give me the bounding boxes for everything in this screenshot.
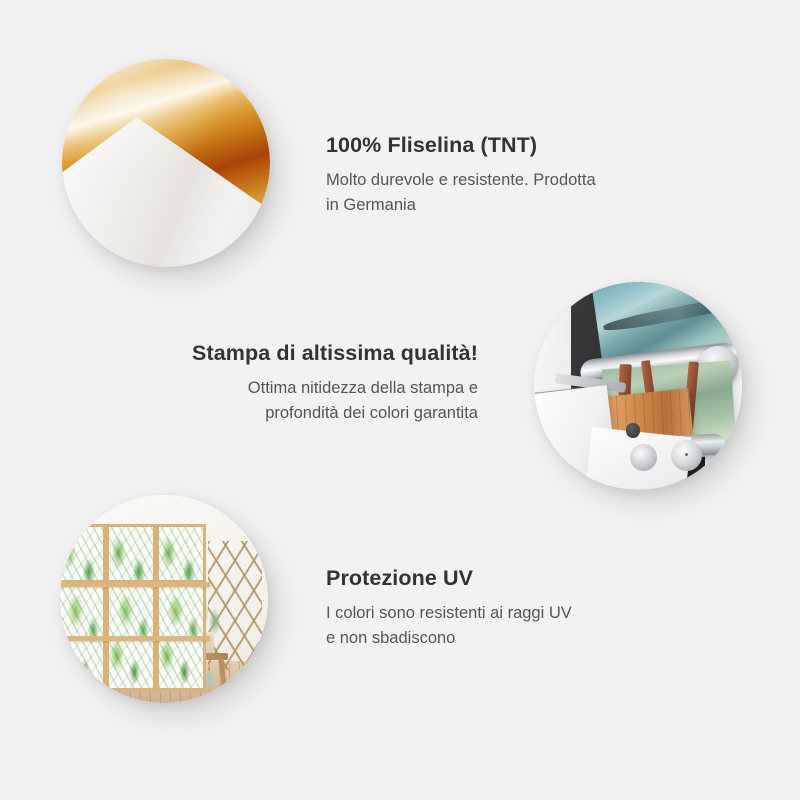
wallpaper-roll-peel-image xyxy=(62,59,270,267)
feature-body-line-1: I colori sono resistenti ai raggi UV xyxy=(326,601,706,626)
feature-body-line-1: Molto durevole e resistente. Prodotta xyxy=(326,168,706,193)
divider-image-inner xyxy=(60,495,268,703)
feature-body-line-2: e non sbadiscono xyxy=(326,626,706,651)
feature-highlights-page: 100% Fliselina (TNT) Molto durevole e re… xyxy=(0,0,800,800)
printer-lower-end-cap xyxy=(630,444,657,471)
feature-text-uv: Protezione UV I colori sono resistenti a… xyxy=(326,566,706,650)
tropical-room-divider-image xyxy=(60,495,268,703)
screen-panel xyxy=(60,524,106,690)
wallpaper-sheen xyxy=(62,59,270,267)
feature-heading-stampa: Stampa di altissima qualità! xyxy=(98,341,478,367)
feature-heading-fliselina: 100% Fliselina (TNT) xyxy=(326,133,706,159)
printer-knob xyxy=(626,423,641,438)
feature-body-line-1: Ottima nitidezza della stampa e xyxy=(98,376,478,401)
feature-text-stampa: Stampa di altissima qualità! Ottima niti… xyxy=(98,341,478,425)
feature-heading-uv: Protezione UV xyxy=(326,566,706,592)
wallpaper-image-inner xyxy=(62,59,270,267)
screen-panel xyxy=(106,524,156,690)
feature-body-line-2: in Germania xyxy=(326,193,706,218)
screen-cross-rail xyxy=(60,636,210,641)
screen-cross-rail xyxy=(60,582,210,587)
printing-machine-image xyxy=(534,282,742,490)
feature-text-fliselina: 100% Fliselina (TNT) Molto durevole e re… xyxy=(326,133,706,217)
tropical-folding-screen xyxy=(60,524,206,690)
printer-image-inner xyxy=(534,282,742,490)
feature-body-line-2: profondità dei colori garantita xyxy=(98,401,478,426)
screen-panel xyxy=(156,524,206,690)
